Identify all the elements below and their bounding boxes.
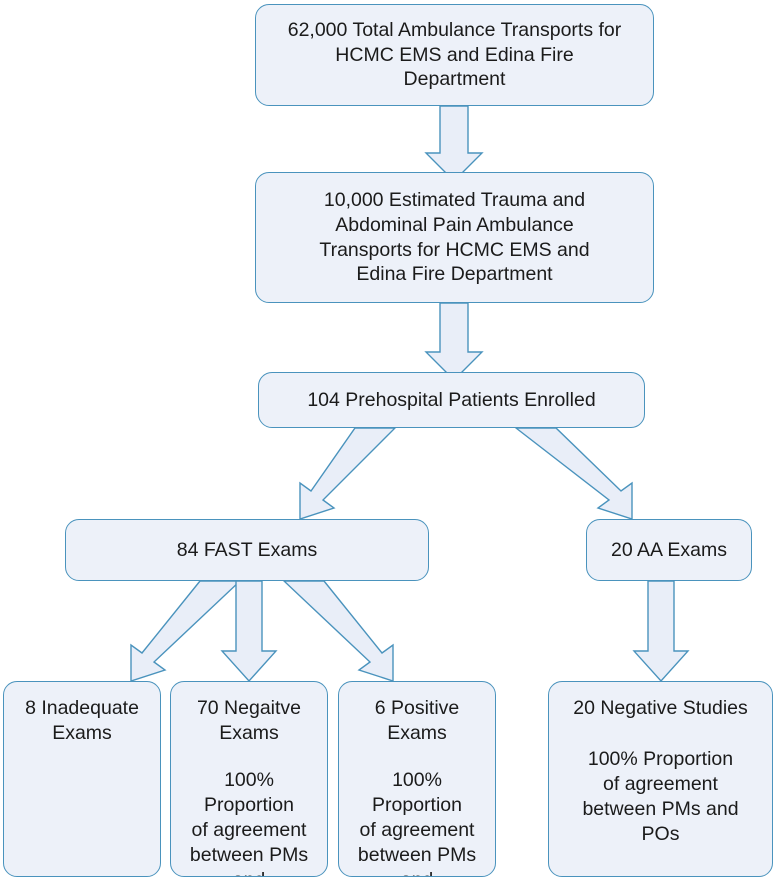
arrow-enrolled-to-fast (300, 428, 395, 519)
node-aa-negative-studies-detail: 100% Proportion of agreement between PMs… (582, 747, 738, 847)
node-fast-exams-label: 84 FAST Exams (177, 538, 318, 563)
arrow-fast-to-inadequate (131, 581, 240, 681)
node-enrolled-label: 104 Prehospital Patients Enrolled (307, 388, 595, 413)
node-aa-negative-studies[interactable]: 20 Negative Studies 100% Proportion of a… (548, 681, 773, 877)
arrow-estimated-to-enrolled (426, 303, 482, 380)
node-estimated-transports-label: 10,000 Estimated Trauma and Abdominal Pa… (319, 188, 589, 288)
arrow-fast-to-positive (284, 581, 393, 681)
node-aa-exams[interactable]: 20 AA Exams (586, 519, 752, 581)
arrow-fast-to-negative (222, 581, 276, 681)
node-negative-exams-label: 70 Negaitve Exams (197, 696, 301, 746)
node-negative-exams-detail: 100% Proportion of agreement between PMs… (177, 768, 321, 877)
node-positive-exams-detail: 100% Proportion of agreement between PMs… (345, 768, 489, 877)
node-positive-exams[interactable]: 6 Positive Exams 100% Proportion of agre… (338, 681, 496, 877)
node-aa-exams-label: 20 AA Exams (611, 538, 727, 563)
node-fast-exams[interactable]: 84 FAST Exams (65, 519, 429, 581)
arrow-aa-to-aanegative (634, 581, 688, 681)
arrow-total-to-estimated (426, 106, 482, 181)
node-aa-negative-studies-label: 20 Negative Studies (573, 696, 748, 721)
node-inadequate-exams-label: 8 Inadequate Exams (25, 696, 139, 746)
node-negative-exams[interactable]: 70 Negaitve Exams 100% Proportion of agr… (170, 681, 328, 877)
arrow-enrolled-to-aa (516, 428, 632, 519)
flowchart-canvas: 62,000 Total Ambulance Transports for HC… (0, 0, 776, 880)
node-total-transports-label: 62,000 Total Ambulance Transports for HC… (288, 18, 622, 93)
node-enrolled[interactable]: 104 Prehospital Patients Enrolled (258, 372, 645, 428)
node-total-transports[interactable]: 62,000 Total Ambulance Transports for HC… (255, 4, 654, 106)
node-estimated-transports[interactable]: 10,000 Estimated Trauma and Abdominal Pa… (255, 172, 654, 303)
node-inadequate-exams[interactable]: 8 Inadequate Exams (3, 681, 161, 877)
node-positive-exams-label: 6 Positive Exams (375, 696, 460, 746)
